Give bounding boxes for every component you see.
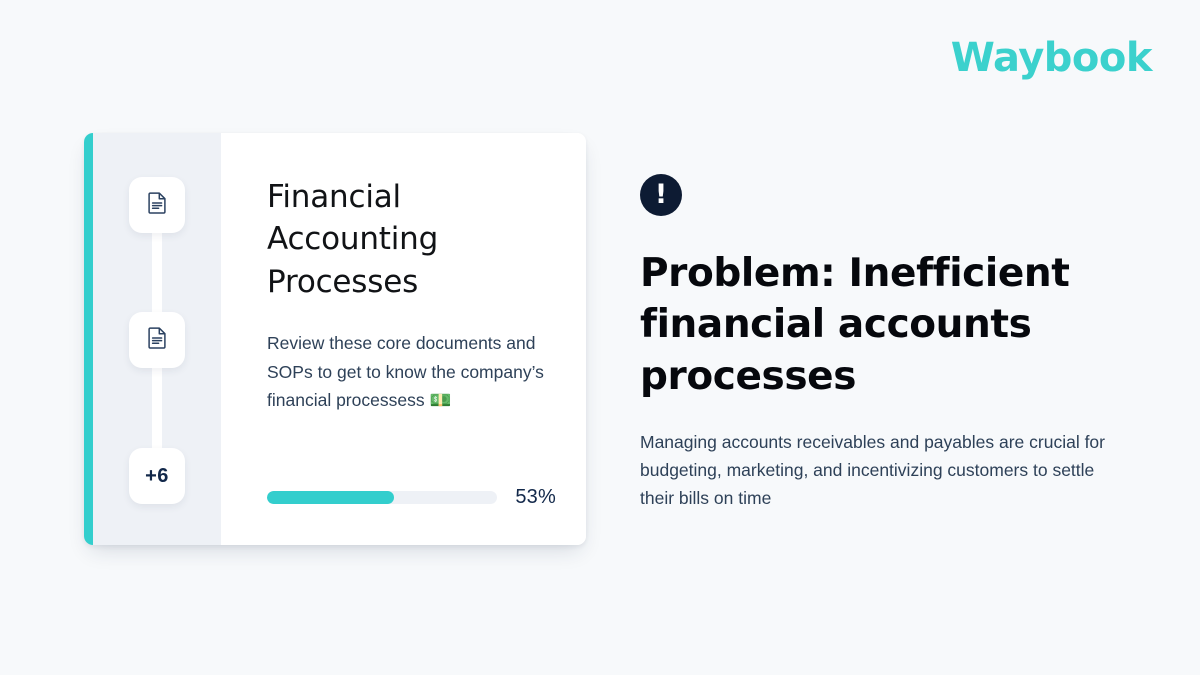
problem-section: ! Problem: Inefficient financial account…	[640, 174, 1140, 512]
exclamation-icon: !	[640, 174, 682, 216]
money-emoji: 💵	[429, 391, 451, 411]
timeline-node-document-1[interactable]	[129, 177, 185, 233]
progress-row: 53%	[267, 486, 556, 509]
progress-percent-label: 53%	[515, 486, 556, 509]
document-icon	[148, 327, 167, 354]
problem-heading: Problem: Inefficient financial accounts …	[640, 248, 1140, 402]
card-description: Review these core documents and SOPs to …	[267, 329, 552, 415]
timeline-node-document-2[interactable]	[129, 312, 185, 368]
problem-description: Managing accounts receivables and payabl…	[640, 428, 1126, 512]
card-description-text: Review these core documents and SOPs to …	[267, 333, 544, 409]
course-card[interactable]: +6 Financial Accounting Processes Review…	[84, 133, 586, 545]
card-timeline-rail: +6	[93, 133, 221, 545]
timeline-node-more-count[interactable]: +6	[129, 448, 185, 504]
waybook-logo: Waybook	[951, 38, 1152, 78]
progress-bar-track[interactable]	[267, 491, 497, 504]
card-accent-strip	[84, 133, 93, 545]
card-content: Financial Accounting Processes Review th…	[221, 133, 586, 545]
card-title: Financial Accounting Processes	[267, 176, 556, 303]
progress-bar-fill	[267, 491, 394, 504]
document-icon	[148, 192, 167, 219]
exclamation-glyph: !	[655, 181, 667, 208]
more-count-label: +6	[145, 465, 169, 488]
